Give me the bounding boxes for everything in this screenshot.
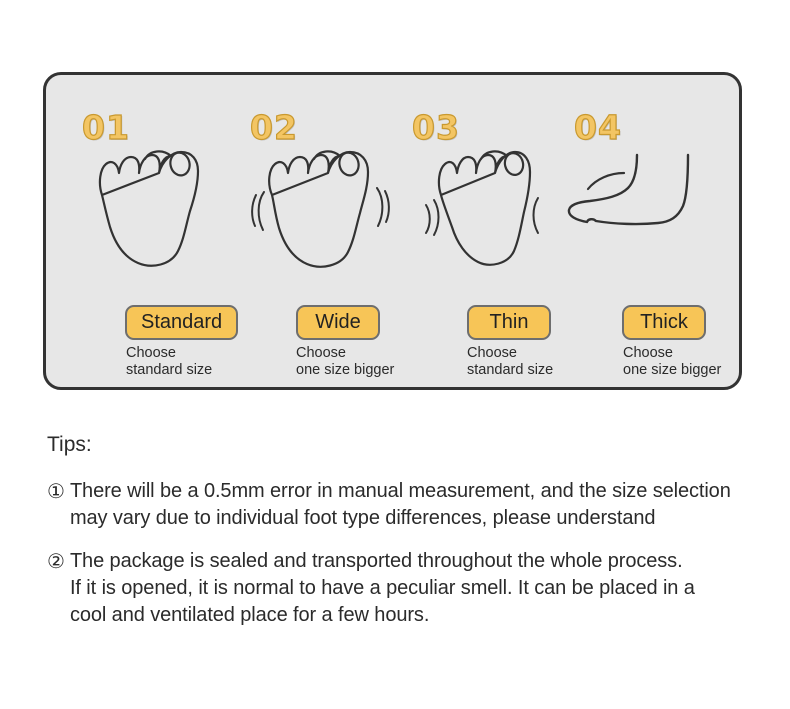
step-number-04: 04 bbox=[574, 108, 622, 147]
circled-number-2-icon: ② bbox=[47, 548, 65, 575]
advice-thin: Choose standard size bbox=[467, 345, 553, 379]
size-badge-wide[interactable]: Wide bbox=[296, 305, 380, 340]
advice-wide: Choose one size bigger bbox=[296, 345, 394, 379]
circled-number-1-icon: ① bbox=[47, 478, 65, 505]
advice-standard: Choose standard size bbox=[126, 345, 212, 379]
tips-heading: Tips: bbox=[47, 432, 777, 458]
size-badge-standard[interactable]: Standard bbox=[125, 305, 238, 340]
foot-sole-thin-icon bbox=[404, 143, 564, 273]
tips-section: Tips: ① There will be a 0.5mm error in m… bbox=[47, 432, 777, 645]
tip-text-1: There will be a 0.5mm error in manual me… bbox=[70, 478, 731, 532]
foot-type-column-thin: 03 Thin Choose standard size bbox=[404, 75, 564, 387]
size-badge-thin[interactable]: Thin bbox=[467, 305, 551, 340]
step-number-02: 02 bbox=[250, 108, 298, 147]
tip-text-2: The package is sealed and transported th… bbox=[70, 548, 695, 629]
tip-item-1: ① There will be a 0.5mm error in manual … bbox=[47, 478, 777, 532]
advice-thick: Choose one size bigger bbox=[623, 345, 721, 379]
foot-type-column-standard: 01 Standard Choose standard size bbox=[74, 75, 234, 387]
step-number-01: 01 bbox=[82, 108, 130, 147]
tip-item-2: ② The package is sealed and transported … bbox=[47, 548, 777, 629]
size-badge-thick[interactable]: Thick bbox=[622, 305, 706, 340]
foot-type-column-thick: 04 Thick Choose one size bigger bbox=[566, 75, 726, 387]
foot-type-guide-panel: 01 Standard Choose standard size 02 bbox=[43, 72, 742, 390]
foot-profile-thick-icon bbox=[566, 143, 726, 273]
foot-sole-wide-icon bbox=[242, 143, 402, 273]
foot-type-column-wide: 02 Wide Choose one size bigger bbox=[242, 75, 402, 387]
foot-sole-standard-icon bbox=[74, 143, 234, 273]
step-number-03: 03 bbox=[412, 108, 460, 147]
